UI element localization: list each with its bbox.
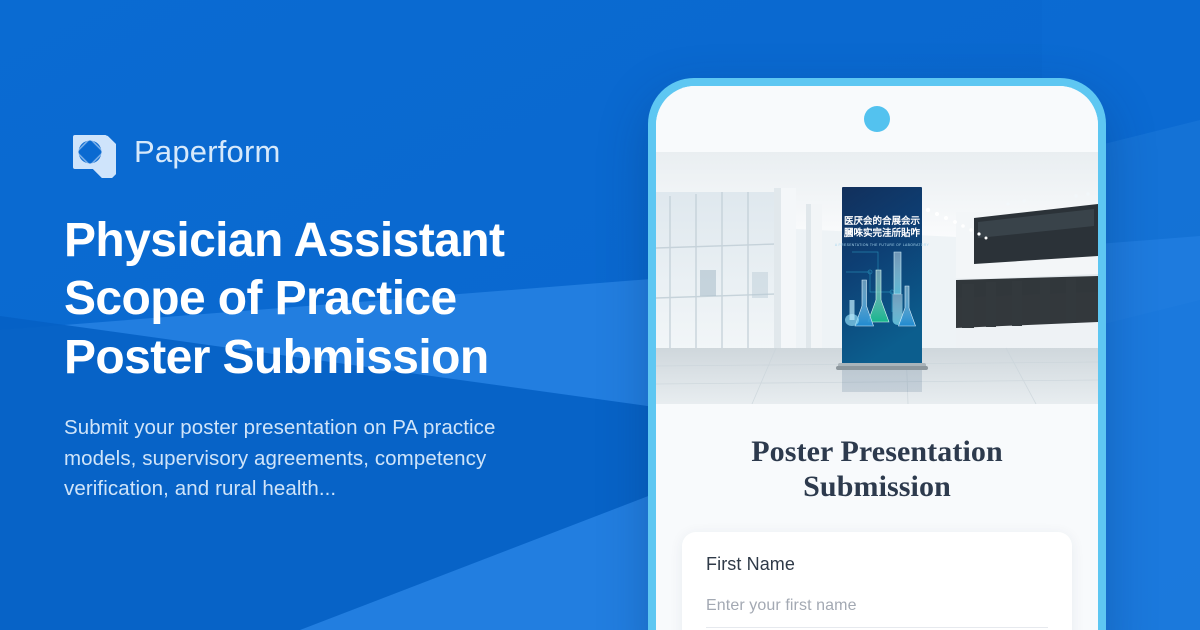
form-content: Poster Presentation Submission First Nam… [656,404,1098,630]
first-name-label: First Name [706,554,1048,575]
phone-top-bar [656,86,1098,152]
banner-heading-line2: 膕咮实完洼斦貼咋 [843,227,921,239]
brand-lockup: Paperform [64,126,624,178]
hero-text-column: Paperform Physician Assistant Scope of P… [64,0,624,630]
phone-screen: 医厌会的合展会示 膕咮实完洼斦貼咋 A PRESENTATION THE FUT… [656,86,1098,630]
banner-subtitle: A PRESENTATION THE FUTURE OF LABORATORY [835,243,930,247]
share-card-canvas: Paperform Physician Assistant Scope of P… [0,0,1200,630]
page-description: Submit your poster presentation on PA pr… [64,413,556,504]
first-name-input[interactable]: Enter your first name [706,597,1048,628]
banner-heading-line1: 医厌会的合展会示 [844,215,921,227]
form-field-first-name[interactable]: First Name Enter your first name [682,532,1072,630]
front-camera-dot-icon [864,106,890,132]
form-cover-photo-svg: 医厌会的合展会示 膕咮实完洼斦貼咋 A PRESENTATION THE FUT… [656,152,1098,404]
form-cover-photo: 医厌会的合展会示 膕咮实完洼斦貼咋 A PRESENTATION THE FUT… [656,152,1098,404]
paperform-starburst-icon [64,126,116,178]
page-title: Physician Assistant Scope of Practice Po… [64,212,584,388]
form-title: Poster Presentation Submission [674,434,1080,504]
phone-mockup: 医厌会的合展会示 膕咮实完洼斦貼咋 A PRESENTATION THE FUT… [648,78,1106,630]
brand-name: Paperform [134,134,281,170]
